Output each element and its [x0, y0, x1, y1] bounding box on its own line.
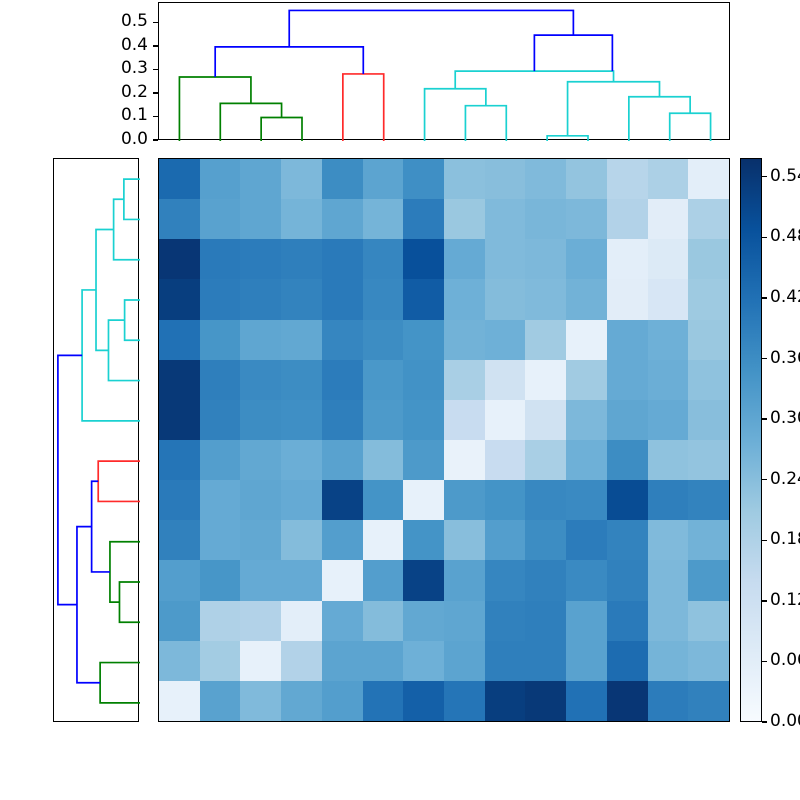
- heatmap-cell: [159, 520, 200, 560]
- heatmap-cell: [485, 480, 526, 520]
- heatmap-cell: [159, 681, 200, 721]
- heatmap-cell: [485, 279, 526, 319]
- heatmap-cell: [566, 159, 607, 199]
- heatmap-cell: [403, 520, 444, 560]
- column-dendrogram-tick-mark: [153, 22, 158, 23]
- column-dendrogram-tick-label: 0.2: [96, 84, 148, 101]
- heatmap-cell: [322, 681, 363, 721]
- heatmap-cell: [363, 199, 404, 239]
- dendrogram-link: [179, 77, 251, 141]
- colorbar-tick-mark: [762, 721, 767, 722]
- colorbar-tick-mark: [762, 297, 767, 298]
- heatmap-cell: [240, 159, 281, 199]
- heatmap-cell: [648, 601, 689, 641]
- heatmap-cell: [607, 320, 648, 360]
- row-dendrogram-plot: [54, 159, 140, 723]
- heatmap-cell: [444, 279, 485, 319]
- heatmap-cell: [281, 400, 322, 440]
- heatmap-cell: [159, 560, 200, 600]
- heatmap-cell: [607, 279, 648, 319]
- heatmap-cell: [200, 560, 241, 600]
- heatmap-cell: [525, 159, 566, 199]
- row-dendrogram-panel: [53, 158, 139, 722]
- heatmap-grid: [159, 159, 729, 721]
- heatmap-cell: [688, 601, 729, 641]
- heatmap-cell: [648, 641, 689, 681]
- heatmap-cell: [648, 360, 689, 400]
- heatmap-cell: [525, 239, 566, 279]
- heatmap-cell: [444, 641, 485, 681]
- heatmap-cell: [444, 199, 485, 239]
- heatmap-cell: [322, 400, 363, 440]
- column-dendrogram-tick-label: 0.0: [96, 131, 148, 148]
- heatmap-cell: [240, 480, 281, 520]
- colorbar-tick-label: 0.48: [770, 228, 800, 245]
- colorbar-tick-label: 0.06: [770, 652, 800, 669]
- colorbar-tick-label: 0.00: [770, 713, 800, 730]
- heatmap-cell: [363, 681, 404, 721]
- heatmap-cell: [200, 199, 241, 239]
- heatmap-cell: [403, 440, 444, 480]
- colorbar-tick-label: 0.54: [770, 168, 800, 185]
- heatmap-cell: [363, 279, 404, 319]
- dendrogram-link: [547, 136, 588, 141]
- heatmap-cell: [607, 239, 648, 279]
- heatmap-cell: [525, 279, 566, 319]
- heatmap-cell: [403, 360, 444, 400]
- heatmap-cell: [200, 681, 241, 721]
- heatmap-cell: [566, 400, 607, 440]
- heatmap-cell: [281, 440, 322, 480]
- heatmap-cell: [281, 641, 322, 681]
- heatmap-cell: [200, 320, 241, 360]
- heatmap-cell: [363, 641, 404, 681]
- heatmap-cell: [525, 360, 566, 400]
- heatmap-cell: [525, 641, 566, 681]
- dendrogram-link: [100, 663, 140, 703]
- heatmap-cell: [281, 601, 322, 641]
- column-dendrogram-tick-label: 0.3: [96, 60, 148, 77]
- heatmap-cell: [403, 641, 444, 681]
- column-dendrogram-tick-label: 0.4: [96, 37, 148, 54]
- heatmap-cell: [159, 239, 200, 279]
- heatmap-cell: [403, 560, 444, 600]
- heatmap-cell: [648, 560, 689, 600]
- heatmap-cell: [403, 159, 444, 199]
- heatmap-cell: [159, 279, 200, 319]
- heatmap-cell: [240, 560, 281, 600]
- heatmap-cell: [444, 560, 485, 600]
- heatmap-cell: [688, 641, 729, 681]
- column-dendrogram-tick-mark: [153, 139, 158, 140]
- heatmap-cell: [403, 239, 444, 279]
- heatmap-cell: [525, 681, 566, 721]
- heatmap-cell: [281, 520, 322, 560]
- heatmap-cell: [566, 199, 607, 239]
- heatmap-cell: [159, 601, 200, 641]
- heatmap-cell: [200, 279, 241, 319]
- heatmap-cell: [281, 360, 322, 400]
- dendrogram-link: [261, 117, 302, 141]
- heatmap-cell: [607, 440, 648, 480]
- heatmap-cell: [648, 520, 689, 560]
- heatmap-cell: [525, 400, 566, 440]
- heatmap-cell: [485, 560, 526, 600]
- heatmap-cell: [485, 601, 526, 641]
- column-dendrogram-panel: [158, 2, 730, 140]
- heatmap-cell: [607, 480, 648, 520]
- heatmap-cell: [200, 601, 241, 641]
- heatmap-cell: [485, 239, 526, 279]
- heatmap-cell: [240, 279, 281, 319]
- colorbar-tick-mark: [762, 661, 767, 662]
- heatmap-cell: [688, 440, 729, 480]
- dendrogram-link: [92, 481, 110, 572]
- dendrogram-link: [77, 527, 100, 683]
- heatmap-cell: [159, 400, 200, 440]
- dendrogram-link: [465, 106, 506, 141]
- heatmap-cell: [688, 560, 729, 600]
- heatmap-cell: [688, 320, 729, 360]
- heatmap-cell: [688, 520, 729, 560]
- heatmap-cell: [363, 520, 404, 560]
- heatmap-cell: [566, 601, 607, 641]
- heatmap-cell: [444, 681, 485, 721]
- heatmap-cell: [403, 681, 444, 721]
- heatmap-cell: [322, 641, 363, 681]
- heatmap-cell: [648, 239, 689, 279]
- dendrogram-link: [98, 461, 140, 501]
- heatmap-cell: [566, 681, 607, 721]
- heatmap-cell: [403, 279, 444, 319]
- heatmap-cell: [200, 480, 241, 520]
- heatmap-cell: [200, 440, 241, 480]
- dendrogram-link: [289, 10, 573, 46]
- heatmap-cell: [363, 601, 404, 641]
- heatmap-cell: [444, 360, 485, 400]
- heatmap-cell: [566, 360, 607, 400]
- column-dendrogram-tick-mark: [153, 45, 158, 46]
- heatmap-cell: [363, 239, 404, 279]
- heatmap-cell: [322, 520, 363, 560]
- heatmap-cell: [200, 239, 241, 279]
- heatmap-cell: [200, 360, 241, 400]
- heatmap-cell: [322, 239, 363, 279]
- heatmap-cell: [688, 480, 729, 520]
- heatmap-cell: [159, 199, 200, 239]
- heatmap-cell: [281, 199, 322, 239]
- dendrogram-link: [220, 103, 281, 141]
- heatmap-cell: [566, 440, 607, 480]
- heatmap-cell: [485, 681, 526, 721]
- dendrogram-link: [114, 199, 140, 259]
- heatmap-cell: [485, 520, 526, 560]
- colorbar-tick-mark: [762, 600, 767, 601]
- colorbar-tick-label: 0.18: [770, 531, 800, 548]
- heatmap-cell: [444, 320, 485, 360]
- heatmap-cell: [525, 520, 566, 560]
- column-dendrogram-plot: [159, 3, 731, 141]
- colorbar-tick-mark: [762, 418, 767, 419]
- heatmap-cell: [607, 601, 648, 641]
- dendrogram-link: [110, 542, 140, 602]
- heatmap-cell: [485, 360, 526, 400]
- heatmap-cell: [607, 400, 648, 440]
- heatmap-cell: [159, 360, 200, 400]
- heatmap-cell: [322, 560, 363, 600]
- heatmap-cell: [688, 360, 729, 400]
- heatmap-cell: [566, 560, 607, 600]
- heatmap-cell: [281, 159, 322, 199]
- heatmap-cell: [485, 440, 526, 480]
- heatmap-cell: [403, 480, 444, 520]
- colorbar-tick-label: 0.24: [770, 471, 800, 488]
- heatmap-cell: [444, 480, 485, 520]
- heatmap-cell: [240, 440, 281, 480]
- heatmap-cell: [525, 601, 566, 641]
- heatmap-cell: [240, 601, 281, 641]
- heatmap-cell: [363, 480, 404, 520]
- heatmap-cell: [363, 159, 404, 199]
- heatmap-cell: [240, 641, 281, 681]
- heatmap-cell: [688, 681, 729, 721]
- heatmap-cell: [607, 560, 648, 600]
- heatmap-cell: [281, 239, 322, 279]
- heatmap-cell: [688, 159, 729, 199]
- column-dendrogram-tick-label: 0.5: [96, 13, 148, 30]
- heatmap-cell: [566, 480, 607, 520]
- heatmap-cell: [485, 641, 526, 681]
- heatmap-cell: [525, 560, 566, 600]
- heatmap-cell: [648, 159, 689, 199]
- heatmap-cell: [444, 440, 485, 480]
- heatmap-panel: [158, 158, 730, 722]
- heatmap-cell: [648, 199, 689, 239]
- colorbar-tick-mark: [762, 176, 767, 177]
- heatmap-cell: [525, 199, 566, 239]
- dendrogram-link: [455, 71, 613, 89]
- heatmap-cell: [607, 159, 648, 199]
- dendrogram-link: [58, 355, 82, 604]
- heatmap-cell: [240, 400, 281, 440]
- dendrogram-link: [96, 230, 114, 351]
- heatmap-cell: [240, 360, 281, 400]
- heatmap-cell: [322, 360, 363, 400]
- heatmap-cell: [363, 440, 404, 480]
- colorbar-tick-mark: [762, 479, 767, 480]
- heatmap-cell: [322, 480, 363, 520]
- heatmap-cell: [281, 480, 322, 520]
- heatmap-cell: [159, 440, 200, 480]
- heatmap-cell: [240, 199, 281, 239]
- heatmap-cell: [525, 320, 566, 360]
- heatmap-cell: [648, 480, 689, 520]
- dendrogram-link: [343, 74, 384, 141]
- colorbar-tick-mark: [762, 237, 767, 238]
- heatmap-cell: [159, 320, 200, 360]
- heatmap-cell: [688, 400, 729, 440]
- heatmap-cell: [363, 320, 404, 360]
- heatmap-cell: [444, 239, 485, 279]
- dendrogram-link: [670, 113, 711, 141]
- colorbar-panel: [740, 158, 762, 722]
- heatmap-cell: [240, 239, 281, 279]
- heatmap-cell: [688, 239, 729, 279]
- heatmap-cell: [159, 159, 200, 199]
- colorbar-tick-label: 0.12: [770, 592, 800, 609]
- heatmap-cell: [607, 360, 648, 400]
- heatmap-cell: [648, 440, 689, 480]
- dendrogram-link: [125, 300, 140, 340]
- heatmap-cell: [485, 199, 526, 239]
- column-dendrogram-tick-label: 0.1: [96, 107, 148, 124]
- heatmap-cell: [240, 320, 281, 360]
- heatmap-cell: [240, 520, 281, 560]
- heatmap-cell: [648, 320, 689, 360]
- heatmap-cell: [566, 239, 607, 279]
- heatmap-cell: [322, 601, 363, 641]
- heatmap-cell: [322, 159, 363, 199]
- heatmap-cell: [403, 400, 444, 440]
- colorbar-tick-label: 0.36: [770, 350, 800, 367]
- heatmap-cell: [607, 199, 648, 239]
- heatmap-cell: [525, 440, 566, 480]
- heatmap-cell: [240, 681, 281, 721]
- heatmap-cell: [322, 320, 363, 360]
- heatmap-cell: [322, 199, 363, 239]
- dendrogram-link: [534, 35, 612, 71]
- heatmap-cell: [485, 400, 526, 440]
- heatmap-cell: [648, 400, 689, 440]
- colorbar-tick-label: 0.30: [770, 410, 800, 427]
- heatmap-cell: [485, 320, 526, 360]
- heatmap-cell: [159, 480, 200, 520]
- heatmap-cell: [403, 601, 444, 641]
- heatmap-cell: [322, 440, 363, 480]
- heatmap-cell: [363, 360, 404, 400]
- heatmap-cell: [444, 601, 485, 641]
- column-dendrogram-tick-mark: [153, 69, 158, 70]
- heatmap-cell: [363, 400, 404, 440]
- heatmap-cell: [485, 159, 526, 199]
- heatmap-cell: [566, 641, 607, 681]
- heatmap-cell: [363, 560, 404, 600]
- clustermap-figure: 0.00.10.20.30.40.5 0.000.060.120.180.240…: [0, 0, 800, 800]
- heatmap-cell: [281, 560, 322, 600]
- heatmap-cell: [607, 681, 648, 721]
- dendrogram-link: [124, 179, 140, 219]
- dendrogram-link: [425, 89, 486, 141]
- colorbar-tick-mark: [762, 358, 767, 359]
- heatmap-cell: [688, 199, 729, 239]
- heatmap-cell: [444, 159, 485, 199]
- dendrogram-link: [119, 582, 140, 622]
- heatmap-cell: [200, 641, 241, 681]
- heatmap-cell: [281, 279, 322, 319]
- heatmap-cell: [566, 279, 607, 319]
- heatmap-cell: [566, 520, 607, 560]
- heatmap-cell: [566, 320, 607, 360]
- heatmap-cell: [648, 681, 689, 721]
- heatmap-cell: [403, 199, 444, 239]
- heatmap-cell: [688, 279, 729, 319]
- dendrogram-link: [629, 97, 690, 141]
- heatmap-cell: [200, 520, 241, 560]
- dendrogram-link: [215, 47, 363, 77]
- heatmap-cell: [648, 279, 689, 319]
- heatmap-cell: [200, 400, 241, 440]
- heatmap-cell: [607, 641, 648, 681]
- heatmap-cell: [607, 520, 648, 560]
- dendrogram-link: [568, 82, 660, 136]
- heatmap-cell: [322, 279, 363, 319]
- heatmap-cell: [444, 400, 485, 440]
- heatmap-cell: [200, 159, 241, 199]
- colorbar-tick-mark: [762, 540, 767, 541]
- heatmap-cell: [403, 320, 444, 360]
- dendrogram-link: [82, 290, 140, 421]
- column-dendrogram-tick-mark: [153, 116, 158, 117]
- colorbar-tick-label: 0.42: [770, 289, 800, 306]
- heatmap-cell: [444, 520, 485, 560]
- heatmap-cell: [281, 681, 322, 721]
- column-dendrogram-tick-mark: [153, 92, 158, 93]
- colorbar-gradient: [741, 159, 761, 721]
- heatmap-cell: [159, 641, 200, 681]
- heatmap-cell: [281, 320, 322, 360]
- heatmap-cell: [525, 480, 566, 520]
